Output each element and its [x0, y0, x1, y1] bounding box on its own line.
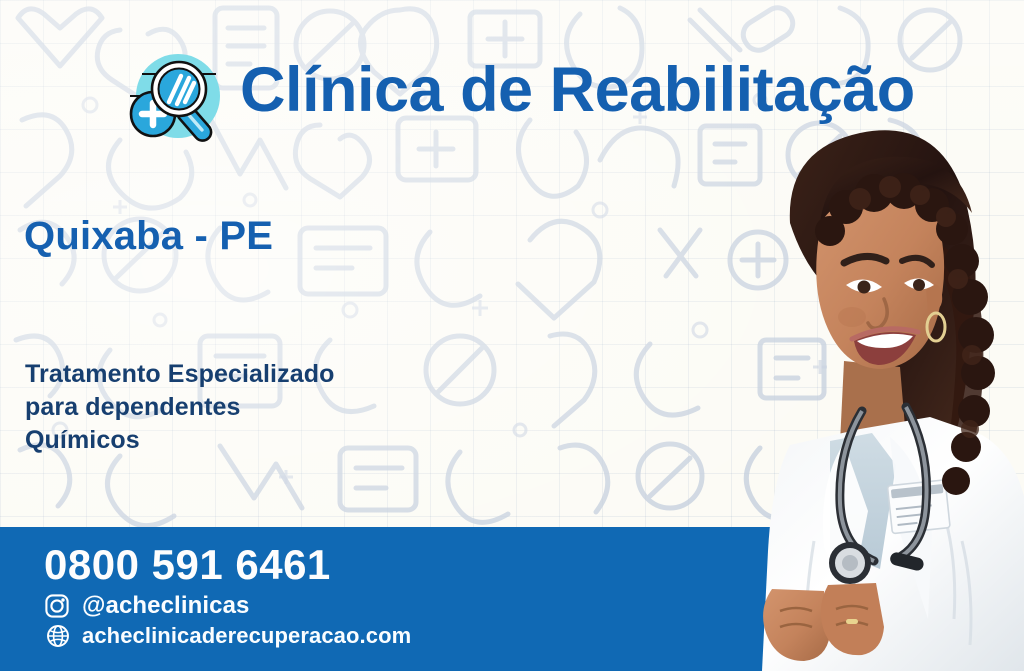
- clinic-banner: Clínica de Reabilitação Quixaba - PE Tra…: [0, 0, 1024, 671]
- website-contact[interactable]: acheclinicaderecuperacao.com: [46, 623, 411, 649]
- globe-icon: [46, 624, 70, 648]
- tagline-line-2: para dependentes: [25, 391, 334, 424]
- tagline-line-3: Químicos: [25, 424, 334, 457]
- phone-number[interactable]: 0800 591 6461: [44, 541, 331, 589]
- ring: [846, 619, 858, 624]
- city-state-label: Quixaba - PE: [24, 214, 273, 259]
- clinic-logo: [124, 52, 228, 150]
- doctor-photo: [694, 111, 1024, 671]
- instagram-handle: @acheclinicas: [82, 592, 249, 620]
- tagline-line-1: Tratamento Especializado: [25, 358, 334, 391]
- magnifier-lens-icon: [152, 62, 206, 116]
- instagram-icon: [44, 593, 70, 619]
- website-url: acheclinicaderecuperacao.com: [82, 623, 411, 649]
- instagram-contact[interactable]: @acheclinicas: [44, 592, 249, 620]
- hands: [763, 583, 884, 661]
- tagline-block: Tratamento Especializado para dependente…: [25, 358, 334, 457]
